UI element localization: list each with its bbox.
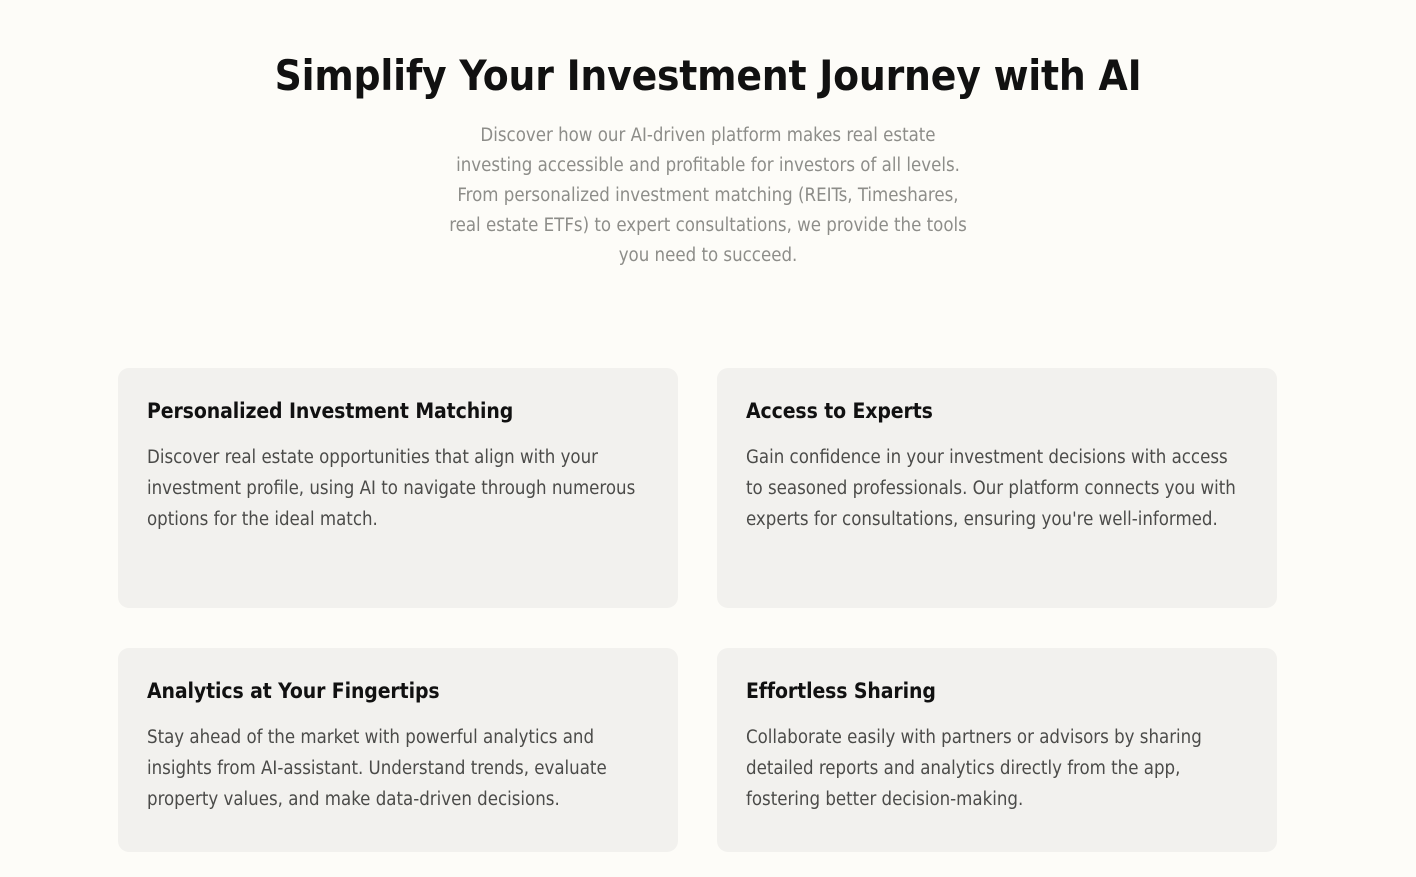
feature-card-title: Access to Experts xyxy=(746,398,1248,424)
feature-card-effortless-sharing[interactable]: Effortless Sharing Collaborate easily wi… xyxy=(717,648,1277,852)
feature-card-title: Effortless Sharing xyxy=(746,678,1248,704)
feature-card-personalized-investment-matching[interactable]: Personalized Investment Matching Discove… xyxy=(118,368,678,608)
feature-card-body: Collaborate easily with partners or advi… xyxy=(746,704,1248,815)
feature-card-analytics-at-your-fingertips[interactable]: Analytics at Your Fingertips Stay ahead … xyxy=(118,648,678,852)
landing-page: Simplify Your Investment Journey with AI… xyxy=(0,0,1416,877)
feature-card-access-to-experts[interactable]: Access to Experts Gain confidence in you… xyxy=(717,368,1277,608)
features-grid: Personalized Investment Matching Discove… xyxy=(118,368,1277,852)
feature-card-body: Discover real estate opportunities that … xyxy=(147,424,649,535)
hero-subtitle: Discover how our AI-driven platform make… xyxy=(0,99,1416,271)
feature-card-body: Stay ahead of the market with powerful a… xyxy=(147,704,649,815)
feature-card-body: Gain confidence in your investment decis… xyxy=(746,424,1248,535)
hero-section: Simplify Your Investment Journey with AI… xyxy=(0,0,1416,271)
feature-card-title: Analytics at Your Fingertips xyxy=(147,678,649,704)
page-title: Simplify Your Investment Journey with AI xyxy=(0,52,1416,99)
feature-card-title: Personalized Investment Matching xyxy=(147,398,649,424)
